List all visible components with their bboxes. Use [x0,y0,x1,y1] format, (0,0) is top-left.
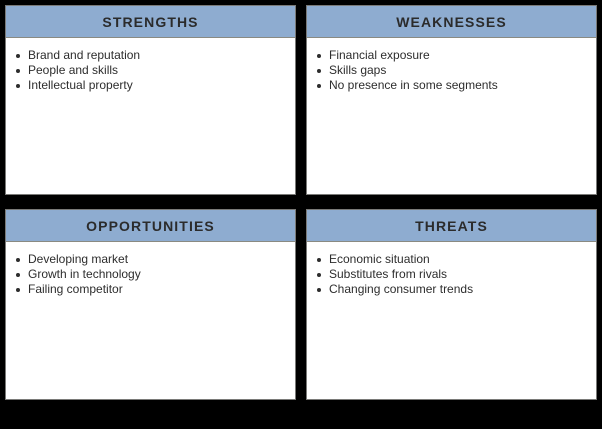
list-item-label: Changing consumer trends [329,282,473,296]
quadrant-weaknesses-title: WEAKNESSES [396,15,507,29]
quadrant-weaknesses: WEAKNESSES Financial exposure Skills gap… [306,5,597,195]
bullet-icon [317,258,321,262]
bullet-icon [16,84,20,88]
list-item: Economic situation [316,252,588,267]
bullet-icon [317,288,321,292]
quadrant-threats-body: Economic situation Substitutes from riva… [307,242,596,399]
quadrant-opportunities-title: OPPORTUNITIES [86,219,215,233]
list-item-label: Growth in technology [28,267,141,281]
list-item: Substitutes from rivals [316,267,588,282]
quadrant-opportunities-body: Developing market Growth in technology F… [6,242,295,399]
list-item: Growth in technology [15,267,287,282]
bullet-icon [16,273,20,277]
list-item: Financial exposure [316,48,588,63]
opportunities-list: Developing market Growth in technology F… [15,252,287,297]
list-item-label: No presence in some segments [329,78,498,92]
list-item-label: Developing market [28,252,128,266]
quadrant-threats-title: THREATS [415,219,488,233]
list-item-label: People and skills [28,63,118,77]
bullet-icon [16,258,20,262]
swot-diagram: STRENGTHS Brand and reputation People an… [0,0,602,429]
quadrant-strengths-body: Brand and reputation People and skills I… [6,38,295,194]
quadrant-strengths-title: STRENGTHS [102,15,198,29]
list-item-label: Skills gaps [329,63,386,77]
list-item: Skills gaps [316,63,588,78]
list-item: Brand and reputation [15,48,287,63]
list-item: People and skills [15,63,287,78]
list-item: Failing competitor [15,282,287,297]
threats-list: Economic situation Substitutes from riva… [316,252,588,297]
weaknesses-list: Financial exposure Skills gaps No presen… [316,48,588,93]
list-item-label: Financial exposure [329,48,430,62]
quadrant-threats: THREATS Economic situation Substitutes f… [306,209,597,400]
quadrant-opportunities: OPPORTUNITIES Developing market Growth i… [5,209,296,400]
list-item: Developing market [15,252,287,267]
bullet-icon [317,54,321,58]
quadrant-weaknesses-body: Financial exposure Skills gaps No presen… [307,38,596,194]
strengths-list: Brand and reputation People and skills I… [15,48,287,93]
bullet-icon [16,69,20,73]
quadrant-strengths: STRENGTHS Brand and reputation People an… [5,5,296,195]
list-item-label: Substitutes from rivals [329,267,447,281]
list-item-label: Failing competitor [28,282,123,296]
bullet-icon [16,54,20,58]
bullet-icon [317,69,321,73]
quadrant-threats-header: THREATS [307,210,596,242]
bullet-icon [317,84,321,88]
list-item: Changing consumer trends [316,282,588,297]
list-item: Intellectual property [15,78,287,93]
list-item-label: Intellectual property [28,78,133,92]
list-item-label: Brand and reputation [28,48,140,62]
quadrant-weaknesses-header: WEAKNESSES [307,6,596,38]
bullet-icon [16,288,20,292]
list-item-label: Economic situation [329,252,430,266]
quadrant-strengths-header: STRENGTHS [6,6,295,38]
list-item: No presence in some segments [316,78,588,93]
bullet-icon [317,273,321,277]
quadrant-opportunities-header: OPPORTUNITIES [6,210,295,242]
